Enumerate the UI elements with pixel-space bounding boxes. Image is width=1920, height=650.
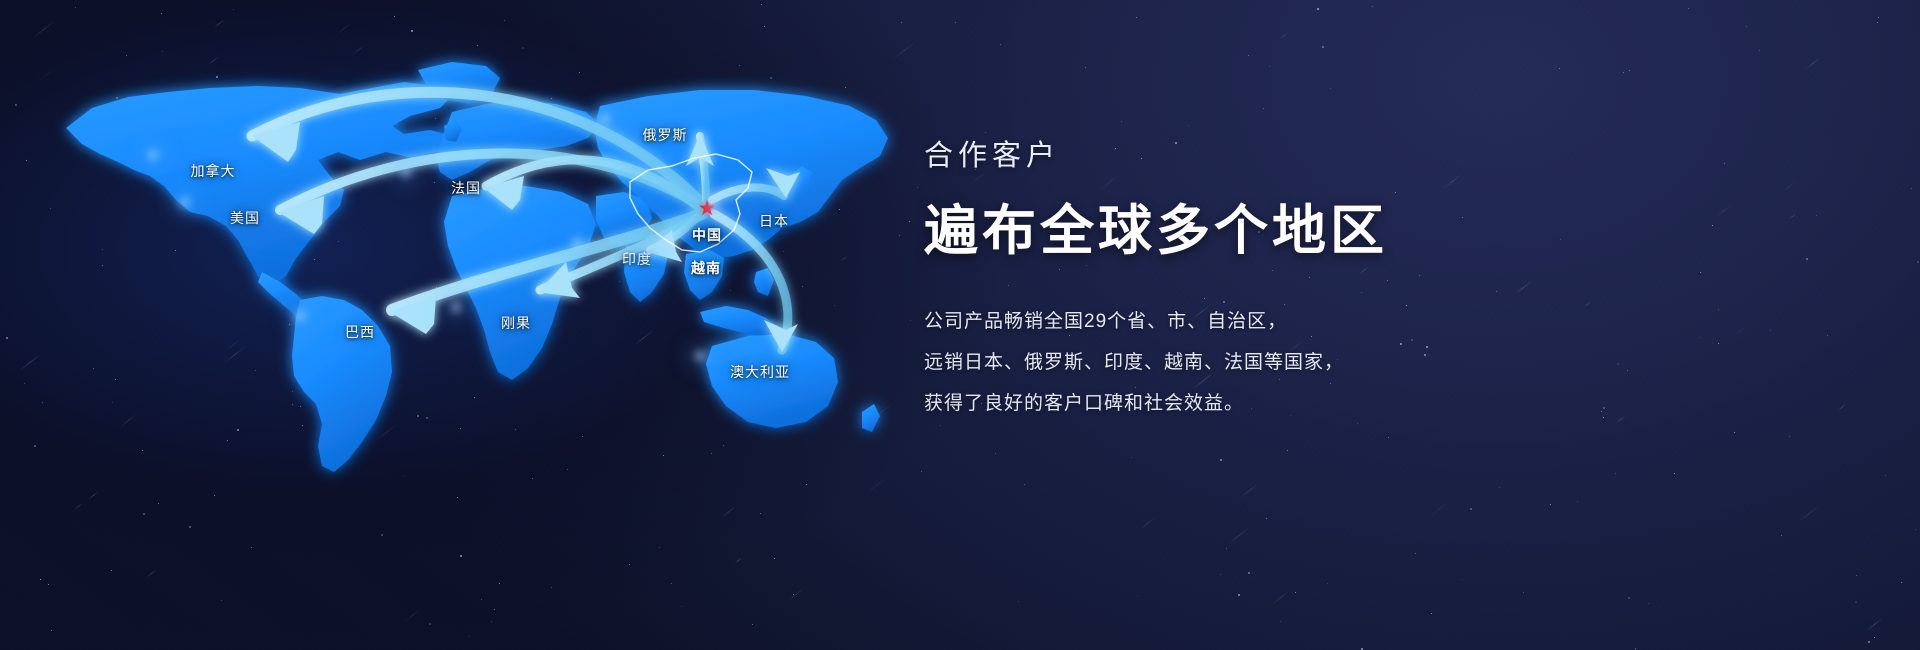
star-streak — [1241, 484, 1258, 498]
star-particle — [1322, 46, 1324, 48]
star-particle — [1226, 548, 1227, 549]
star-particle — [1431, 613, 1432, 614]
continents-layer — [66, 62, 888, 472]
page-title: 遍布全球多个地区 — [924, 186, 1824, 265]
star-particle — [1874, 637, 1875, 638]
description-line-2: 远销日本、俄罗斯、印度、越南、法国等国家， — [924, 342, 1824, 383]
star-particle — [1688, 8, 1689, 9]
world-map: 加拿大美国巴西刚果法国俄罗斯★中国日本印度越南澳大利亚 — [0, 0, 1030, 650]
star-particle — [1550, 504, 1551, 505]
star-particle — [1878, 17, 1879, 18]
star-particle — [1388, 437, 1389, 438]
star-particle — [1635, 648, 1636, 649]
star-particle — [1648, 603, 1649, 604]
star-particle — [1269, 66, 1270, 67]
star-streak — [1798, 505, 1821, 523]
star-particle — [1523, 592, 1524, 593]
star-particle — [1295, 592, 1296, 593]
star-particle — [1085, 67, 1086, 68]
star-particle — [1317, 8, 1319, 10]
landmass-new-zealand — [862, 404, 880, 432]
star-particle — [1137, 596, 1138, 597]
star-particle — [1280, 621, 1281, 622]
star-particle — [1372, 6, 1373, 7]
description-paragraph: 公司产品畅销全国29个省、市、自治区，远销日本、俄罗斯、印度、越南、法国等国家，… — [924, 301, 1824, 424]
description-line-1: 公司产品畅销全国29个省、市、自治区， — [924, 301, 1824, 342]
star-streak — [1838, 404, 1846, 411]
star-particle — [1559, 68, 1560, 69]
star-particle — [1781, 535, 1782, 536]
landmass-southeast-asia — [684, 250, 724, 300]
star-streak — [1139, 517, 1156, 531]
star-particle — [1734, 432, 1735, 433]
star-particle — [1901, 582, 1902, 583]
global-partners-banner: 加拿大美国巴西刚果法国俄罗斯★中国日本印度越南澳大利亚 合作客户 遍布全球多个地… — [0, 0, 1920, 650]
star-particle — [1415, 553, 1416, 554]
star-particle — [1248, 55, 1249, 56]
star-particle — [1499, 487, 1500, 488]
star-particle — [1615, 473, 1616, 474]
landmass-australia — [706, 334, 838, 428]
star-particle — [1759, 50, 1760, 51]
star-particle — [1629, 70, 1630, 71]
star-particle — [1136, 17, 1137, 18]
star-streak — [1228, 526, 1251, 544]
star-particle — [1470, 508, 1472, 510]
star-particle — [1623, 72, 1624, 73]
star-particle — [1917, 261, 1919, 263]
banner-copy-block: 合作客户 遍布全球多个地区 公司产品畅销全国29个省、市、自治区，远销日本、俄罗… — [924, 132, 1824, 424]
star-particle — [1746, 26, 1747, 27]
star-particle — [1868, 641, 1870, 643]
star-particle — [1131, 457, 1132, 458]
star-particle — [1327, 583, 1328, 584]
star-particle — [1674, 473, 1675, 474]
star-particle — [1121, 121, 1122, 122]
star-particle — [1911, 188, 1912, 189]
star-particle — [1220, 574, 1221, 575]
star-particle — [1263, 108, 1264, 109]
star-particle — [1361, 648, 1363, 650]
eyebrow-text: 合作客户 — [924, 132, 1824, 174]
star-particle — [1238, 594, 1240, 596]
star-particle — [1462, 579, 1463, 580]
star-particle — [1856, 575, 1857, 576]
star-particle — [1248, 572, 1250, 574]
star-streak — [1428, 501, 1449, 517]
star-particle — [1789, 436, 1790, 437]
landmass-south-america — [292, 296, 392, 472]
star-particle — [1266, 518, 1267, 519]
description-line-3: 获得了良好的客户口碑和社会效益。 — [924, 383, 1824, 424]
star-particle — [1330, 88, 1331, 89]
world-map-svg — [0, 0, 1030, 650]
star-particle — [1915, 529, 1916, 530]
landmass-north-america — [66, 82, 452, 286]
star-streak — [1804, 57, 1820, 70]
star-particle — [1885, 475, 1886, 476]
star-particle — [1287, 450, 1288, 451]
star-streak — [1866, 618, 1883, 632]
star-streak — [1272, 591, 1290, 605]
star-particle — [1827, 335, 1828, 336]
star-particle — [1628, 597, 1630, 599]
star-particle — [1855, 601, 1857, 603]
star-particle — [1220, 459, 1222, 461]
star-particle — [1577, 501, 1578, 502]
star-particle — [1188, 125, 1189, 126]
star-streak — [1279, 31, 1289, 39]
star-particle — [1877, 22, 1878, 23]
